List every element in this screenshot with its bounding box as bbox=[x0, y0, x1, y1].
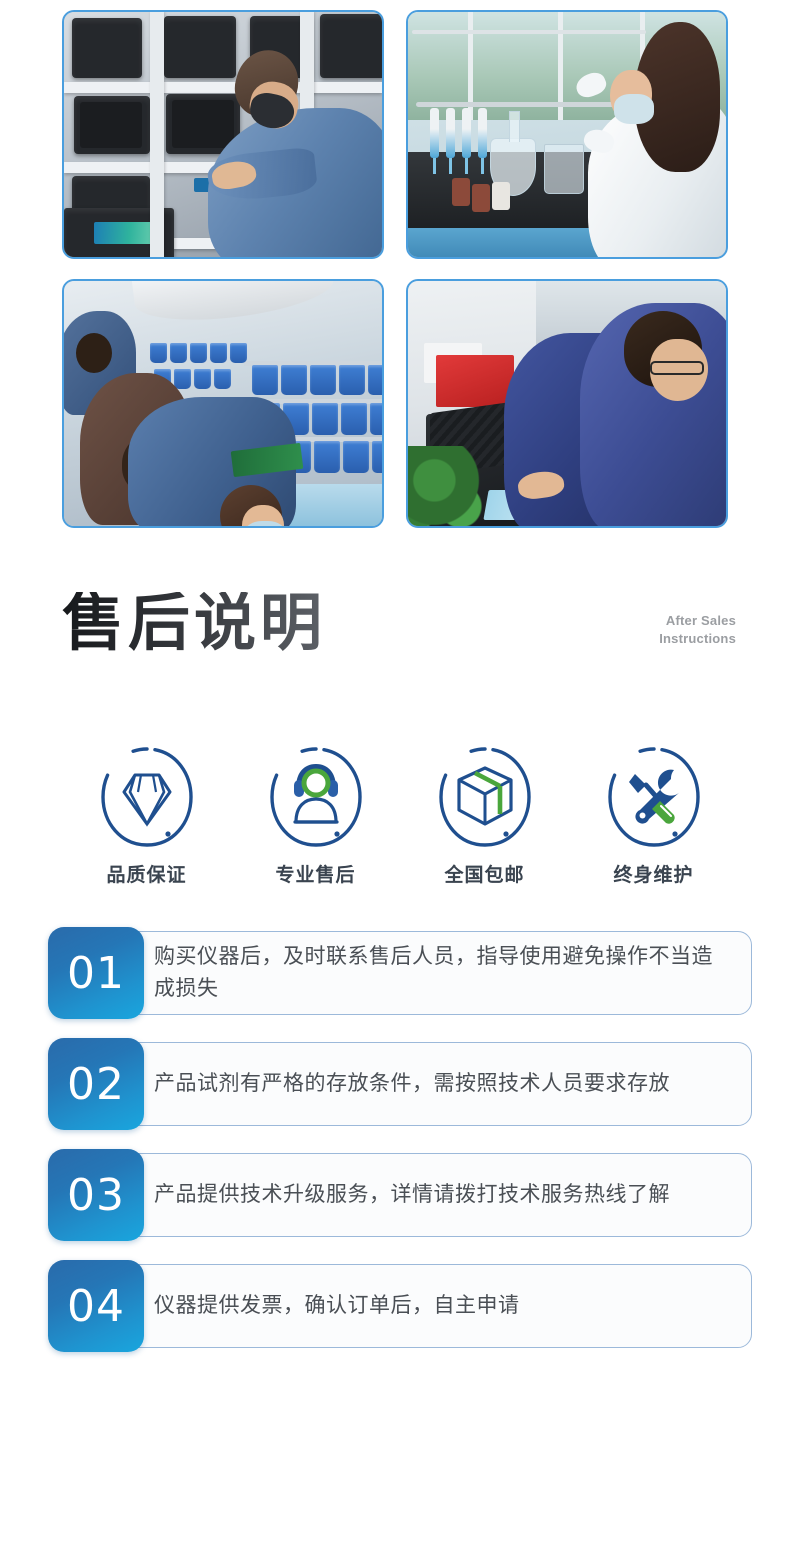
shelf-post bbox=[150, 12, 164, 257]
card-text: 购买仪器后，及时联系售后人员，指导使用避免操作不当造成损失 bbox=[154, 941, 724, 1005]
feature-label: 专业售后 bbox=[275, 866, 355, 885]
reagent-bottle bbox=[472, 184, 490, 212]
photo-office-demo-scene bbox=[408, 281, 726, 526]
parts-bin bbox=[190, 343, 207, 363]
parts-bin bbox=[341, 403, 367, 435]
instruction-card-list: 01 购买仪器后，及时联系售后人员，指导使用避免操作不当造成损失 02 产品试剂… bbox=[0, 927, 800, 1352]
photo-laboratory-technician bbox=[406, 10, 728, 259]
card-number-badge: 04 bbox=[48, 1260, 144, 1352]
parts-bin bbox=[370, 403, 382, 435]
parts-bin bbox=[281, 365, 307, 395]
instrument-case bbox=[320, 14, 382, 78]
parts-bin bbox=[310, 365, 336, 395]
parts-bin bbox=[343, 441, 369, 473]
face-mask bbox=[614, 94, 654, 124]
instruction-card-03[interactable]: 03 产品提供技术升级服务，详情请拨打技术服务热线了解 bbox=[48, 1149, 752, 1241]
section-header: 售后说明 After Sales Instructions bbox=[0, 592, 800, 696]
feature-lifetime-maintenance[interactable]: 终身维护 bbox=[569, 744, 738, 885]
card-text: 仪器提供发票，确认订单后，自主申请 bbox=[154, 1290, 520, 1322]
card-text-wrap: 产品试剂有严格的存放条件，需按照技术人员要求存放 bbox=[206, 1038, 724, 1130]
card-text-wrap: 购买仪器后，及时联系售后人员，指导使用避免操作不当造成损失 bbox=[206, 927, 724, 1019]
wrench-screwdriver-icon bbox=[604, 744, 704, 850]
engineer-right bbox=[580, 303, 726, 526]
card-number-badge: 03 bbox=[48, 1149, 144, 1241]
parts-bin bbox=[339, 365, 365, 395]
page-title: 售后说明 bbox=[62, 592, 326, 654]
eyeglasses bbox=[650, 361, 704, 375]
instrument-case bbox=[164, 16, 236, 78]
parts-bin bbox=[368, 365, 382, 395]
headset-support-icon bbox=[266, 744, 366, 850]
package-box-icon bbox=[435, 744, 535, 850]
pipette bbox=[430, 108, 439, 158]
pipette bbox=[462, 108, 471, 158]
feature-label: 终身维护 bbox=[613, 866, 693, 885]
pipette bbox=[478, 108, 487, 158]
parts-bin bbox=[150, 343, 167, 363]
card-text: 产品试剂有严格的存放条件，需按照技术人员要求存放 bbox=[154, 1068, 670, 1100]
section-subtitle-line2: Instructions bbox=[659, 630, 736, 648]
red-folder-box bbox=[436, 355, 514, 407]
parts-bin bbox=[214, 369, 231, 389]
parts-bin-row bbox=[252, 365, 382, 395]
photo-assembly-line bbox=[62, 279, 384, 528]
parts-bin bbox=[174, 369, 191, 389]
parts-bin bbox=[194, 369, 211, 389]
feature-nationwide-shipping[interactable]: 全国包邮 bbox=[400, 744, 569, 885]
instruction-card-02[interactable]: 02 产品试剂有严格的存放条件，需按照技术人员要求存放 bbox=[48, 1038, 752, 1130]
case-foam-insert bbox=[80, 102, 142, 148]
diamond-icon bbox=[97, 744, 197, 850]
card-number-badge: 02 bbox=[48, 1038, 144, 1130]
parts-bin bbox=[314, 441, 340, 473]
instrument-case bbox=[72, 18, 142, 78]
instruction-card-04[interactable]: 04 仪器提供发票，确认订单后，自主申请 bbox=[48, 1260, 752, 1352]
section-subtitle-line1: After Sales bbox=[659, 612, 736, 630]
parts-bin bbox=[252, 365, 278, 395]
feature-list: 品质保证 专业售后 全国包邮 bbox=[0, 744, 800, 885]
parts-bin bbox=[210, 343, 227, 363]
feature-label: 全国包邮 bbox=[444, 866, 524, 885]
bench-rail bbox=[412, 30, 646, 34]
shelf-board bbox=[64, 82, 382, 93]
card-number-badge: 01 bbox=[48, 927, 144, 1019]
reagent-bottle bbox=[492, 182, 510, 210]
photo-warehouse-scene bbox=[64, 12, 382, 257]
case-foam-insert bbox=[172, 100, 234, 148]
photo-gallery bbox=[0, 0, 800, 528]
card-text: 产品提供技术升级服务，详情请拨打技术服务热线了解 bbox=[154, 1179, 670, 1211]
parts-bin-row bbox=[150, 343, 247, 363]
potted-plant bbox=[408, 446, 486, 526]
pipette bbox=[446, 108, 455, 158]
ventilation-duct bbox=[132, 281, 337, 329]
worker-head bbox=[76, 333, 112, 373]
card-text-wrap: 仪器提供发票，确认订单后，自主申请 bbox=[206, 1260, 724, 1352]
feature-quality-guarantee[interactable]: 品质保证 bbox=[62, 744, 231, 885]
reagent-bottle bbox=[452, 178, 470, 206]
feature-professional-support[interactable]: 专业售后 bbox=[231, 744, 400, 885]
photo-warehouse-instrument-cases bbox=[62, 10, 384, 259]
parts-bin bbox=[230, 343, 247, 363]
photo-engineers-demo bbox=[406, 279, 728, 528]
section-subtitle: After Sales Instructions bbox=[659, 612, 736, 647]
card-text-wrap: 产品提供技术升级服务，详情请拨打技术服务热线了解 bbox=[206, 1149, 724, 1241]
parts-bin bbox=[372, 441, 382, 473]
feature-label: 品质保证 bbox=[106, 866, 186, 885]
photo-assembly-scene bbox=[64, 281, 382, 526]
beaker bbox=[544, 144, 584, 194]
parts-bin bbox=[312, 403, 338, 435]
device-screen bbox=[94, 222, 158, 244]
instruction-card-01[interactable]: 01 购买仪器后，及时联系售后人员，指导使用避免操作不当造成损失 bbox=[48, 927, 752, 1019]
photo-laboratory-scene bbox=[408, 12, 726, 257]
parts-bin bbox=[170, 343, 187, 363]
